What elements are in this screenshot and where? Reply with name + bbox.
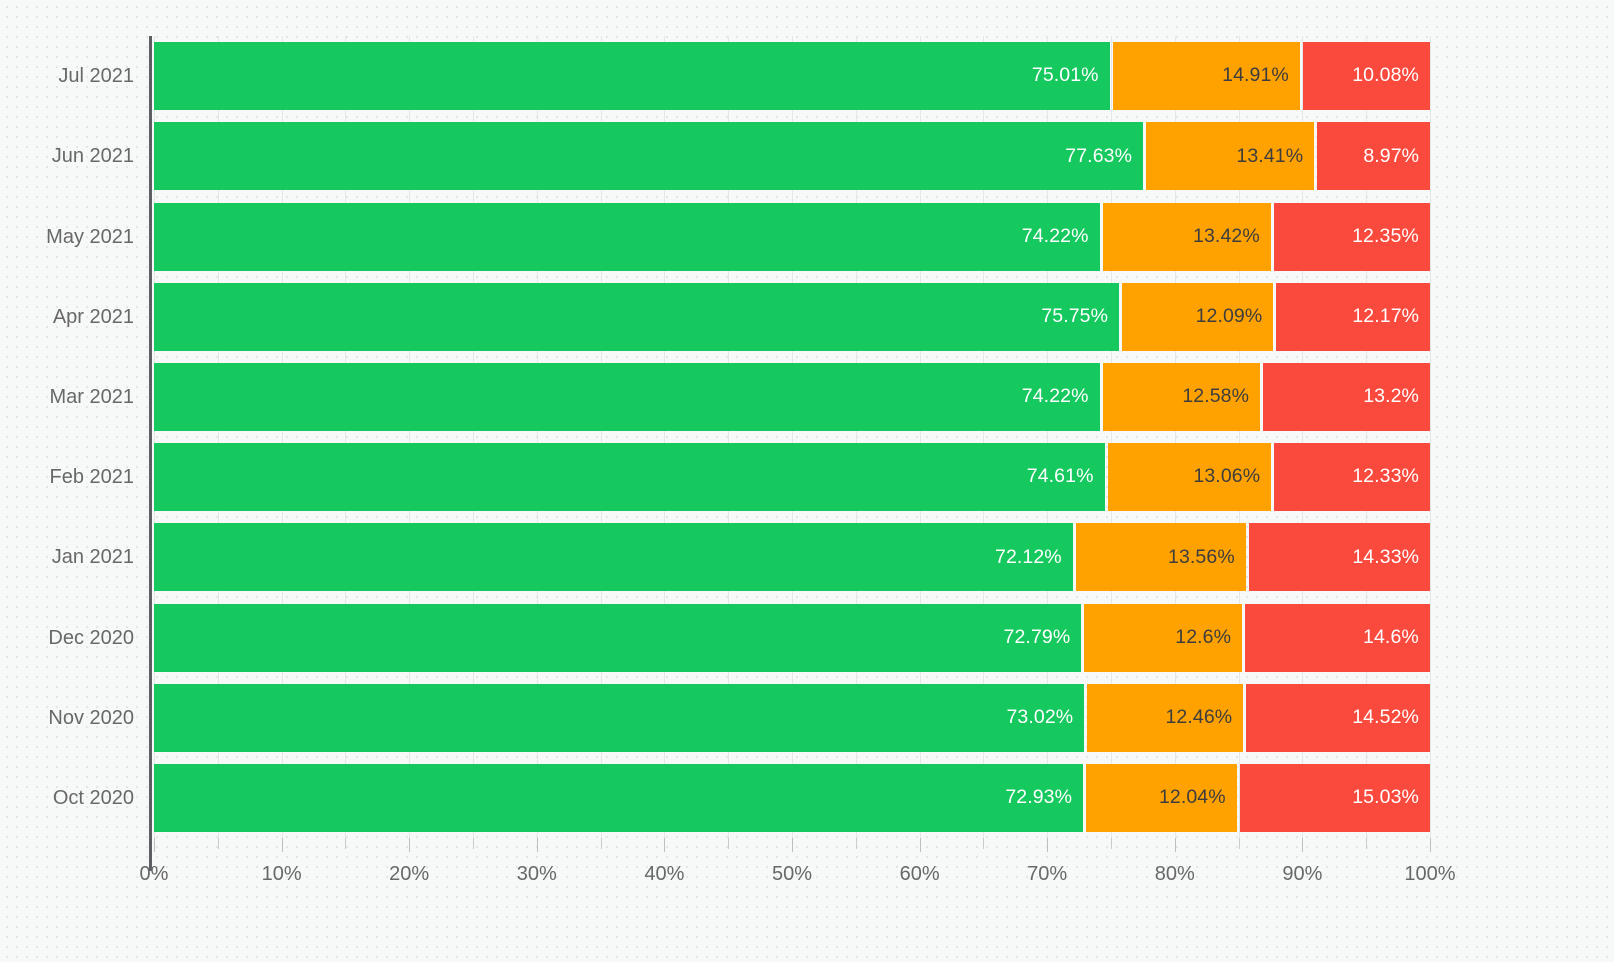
- bar-segment-mid[interactable]: 12.46%: [1087, 684, 1243, 752]
- bar-segment-value-label: 72.12%: [995, 548, 1073, 568]
- x-axis-tick-label: 70%: [1027, 864, 1067, 884]
- bar-segment-bad[interactable]: 14.6%: [1245, 604, 1430, 672]
- bar-segment-value-label: 13.06%: [1193, 467, 1271, 487]
- bar-segment-bad[interactable]: 10.08%: [1303, 42, 1430, 110]
- x-axis-minor-tick: [983, 838, 984, 849]
- bar-segment-bad[interactable]: 12.17%: [1276, 283, 1430, 351]
- bar-row: 72.79%12.6%14.6%: [0, 604, 1614, 672]
- bar-segment-value-label: 13.41%: [1236, 147, 1314, 167]
- x-axis-minor-tick: [1366, 838, 1367, 849]
- bar-segment-value-label: 13.2%: [1363, 387, 1430, 407]
- bar-segment-value-label: 12.17%: [1352, 307, 1430, 327]
- x-axis-tick-label: 50%: [772, 864, 812, 884]
- bar-segment-value-label: 12.33%: [1352, 467, 1430, 487]
- bar-segment-value-label: 75.01%: [1032, 66, 1110, 86]
- bar-segment-good[interactable]: 72.12%: [154, 523, 1073, 591]
- x-axis-tick-label: 30%: [517, 864, 557, 884]
- x-axis-minor-tick: [345, 838, 346, 849]
- bar-segment-mid[interactable]: 12.09%: [1122, 283, 1273, 351]
- x-axis-tick-label: 10%: [262, 864, 302, 884]
- bar-segment-value-label: 72.93%: [1005, 788, 1083, 808]
- bar-segment-good[interactable]: 75.75%: [154, 283, 1119, 351]
- bar-segment-good[interactable]: 74.61%: [154, 443, 1105, 511]
- bar-track: 75.01%14.91%10.08%: [0, 42, 1614, 110]
- bar-segment-mid[interactable]: 12.58%: [1103, 363, 1261, 431]
- bar-segment-mid[interactable]: 13.56%: [1076, 523, 1246, 591]
- bar-segment-mid[interactable]: 13.06%: [1108, 443, 1272, 511]
- x-axis-minor-tick: [856, 838, 857, 849]
- bar-track: 72.93%12.04%15.03%: [0, 764, 1614, 832]
- bar-segment-value-label: 77.63%: [1065, 147, 1143, 167]
- x-axis-minor-tick: [601, 838, 602, 849]
- bar-segment-value-label: 14.91%: [1222, 66, 1300, 86]
- x-axis-major-tick: [792, 838, 793, 852]
- bar-row: 73.02%12.46%14.52%: [0, 684, 1614, 752]
- bar-track: 75.75%12.09%12.17%: [0, 283, 1614, 351]
- bar-segment-value-label: 14.6%: [1363, 628, 1430, 648]
- x-axis-tick-label: 0%: [140, 864, 169, 884]
- x-axis-major-tick: [664, 838, 665, 852]
- bar-segment-mid[interactable]: 13.42%: [1103, 203, 1271, 271]
- stacked-bar-chart: 0%10%20%30%40%50%60%70%80%90%100% Jul 20…: [0, 0, 1614, 962]
- bar-track: 74.22%12.58%13.2%: [0, 363, 1614, 431]
- bar-segment-bad[interactable]: 12.35%: [1274, 203, 1430, 271]
- bar-row: 77.63%13.41%8.97%: [0, 122, 1614, 190]
- bar-row: 74.22%13.42%12.35%: [0, 203, 1614, 271]
- x-axis-major-tick: [1430, 838, 1431, 852]
- bar-segment-mid[interactable]: 13.41%: [1146, 122, 1314, 190]
- bar-segment-value-label: 12.09%: [1196, 307, 1274, 327]
- x-axis: 0%10%20%30%40%50%60%70%80%90%100%: [0, 838, 1614, 962]
- x-axis-minor-tick: [218, 838, 219, 849]
- bar-segment-mid[interactable]: 12.04%: [1086, 764, 1237, 832]
- bar-segment-value-label: 8.97%: [1363, 147, 1430, 167]
- bar-track: 74.22%13.42%12.35%: [0, 203, 1614, 271]
- bar-row: 75.75%12.09%12.17%: [0, 283, 1614, 351]
- x-axis-tick-label: 20%: [389, 864, 429, 884]
- x-axis-tick-label: 100%: [1404, 864, 1455, 884]
- bar-segment-good[interactable]: 74.22%: [154, 363, 1100, 431]
- x-axis-major-tick: [1175, 838, 1176, 852]
- bar-row: 74.61%13.06%12.33%: [0, 443, 1614, 511]
- bar-segment-bad[interactable]: 15.03%: [1240, 764, 1430, 832]
- bar-segment-value-label: 13.56%: [1168, 548, 1246, 568]
- bar-segment-value-label: 74.22%: [1022, 387, 1100, 407]
- x-axis-major-tick: [1302, 838, 1303, 852]
- x-axis-major-tick: [1047, 838, 1048, 852]
- bar-row: 75.01%14.91%10.08%: [0, 42, 1614, 110]
- bar-segment-value-label: 72.79%: [1004, 628, 1082, 648]
- bar-segment-mid[interactable]: 12.6%: [1084, 604, 1242, 672]
- bar-row: 72.12%13.56%14.33%: [0, 523, 1614, 591]
- bar-segment-value-label: 75.75%: [1041, 307, 1119, 327]
- bar-segment-bad[interactable]: 14.52%: [1246, 684, 1430, 752]
- x-axis-tick-label: 60%: [900, 864, 940, 884]
- bar-segment-value-label: 12.58%: [1182, 387, 1260, 407]
- bar-segment-good[interactable]: 73.02%: [154, 684, 1084, 752]
- bar-segment-good[interactable]: 77.63%: [154, 122, 1143, 190]
- bar-segment-value-label: 74.22%: [1022, 227, 1100, 247]
- bar-segment-value-label: 12.6%: [1175, 628, 1242, 648]
- x-axis-major-tick: [920, 838, 921, 852]
- bar-row: 74.22%12.58%13.2%: [0, 363, 1614, 431]
- bar-row: 72.93%12.04%15.03%: [0, 764, 1614, 832]
- x-axis-major-tick: [409, 838, 410, 852]
- bar-segment-good[interactable]: 75.01%: [154, 42, 1110, 110]
- bar-segment-value-label: 13.42%: [1193, 227, 1271, 247]
- x-axis-minor-tick: [473, 838, 474, 849]
- bar-segment-value-label: 14.52%: [1352, 708, 1430, 728]
- x-axis-tick-label: 80%: [1155, 864, 1195, 884]
- x-axis-major-tick: [537, 838, 538, 852]
- bar-segment-value-label: 15.03%: [1352, 788, 1430, 808]
- x-axis-minor-tick: [1111, 838, 1112, 849]
- bar-segment-bad[interactable]: 12.33%: [1274, 443, 1430, 511]
- x-axis-tick-label: 40%: [644, 864, 684, 884]
- bar-track: 77.63%13.41%8.97%: [0, 122, 1614, 190]
- bar-segment-value-label: 73.02%: [1006, 708, 1084, 728]
- x-axis-major-tick: [154, 838, 155, 852]
- x-axis-tick-label: 90%: [1282, 864, 1322, 884]
- bar-segment-bad[interactable]: 14.33%: [1249, 523, 1430, 591]
- x-axis-minor-tick: [728, 838, 729, 849]
- bar-segment-value-label: 14.33%: [1352, 548, 1430, 568]
- bar-segment-value-label: 12.04%: [1159, 788, 1237, 808]
- bar-segment-value-label: 74.61%: [1027, 467, 1105, 487]
- x-axis-minor-tick: [1239, 838, 1240, 849]
- bar-track: 72.79%12.6%14.6%: [0, 604, 1614, 672]
- x-axis-major-tick: [282, 838, 283, 852]
- bar-segment-value-label: 12.35%: [1352, 227, 1430, 247]
- bar-segment-good[interactable]: 74.22%: [154, 203, 1100, 271]
- bar-segment-value-label: 10.08%: [1352, 66, 1430, 86]
- bar-track: 74.61%13.06%12.33%: [0, 443, 1614, 511]
- bar-segment-good[interactable]: 72.79%: [154, 604, 1081, 672]
- bar-segment-mid[interactable]: 14.91%: [1113, 42, 1300, 110]
- bar-segment-good[interactable]: 72.93%: [154, 764, 1083, 832]
- bar-segment-bad[interactable]: 8.97%: [1317, 122, 1430, 190]
- bar-track: 72.12%13.56%14.33%: [0, 523, 1614, 591]
- bar-track: 73.02%12.46%14.52%: [0, 684, 1614, 752]
- bar-segment-bad[interactable]: 13.2%: [1263, 363, 1430, 431]
- bar-segment-value-label: 12.46%: [1165, 708, 1243, 728]
